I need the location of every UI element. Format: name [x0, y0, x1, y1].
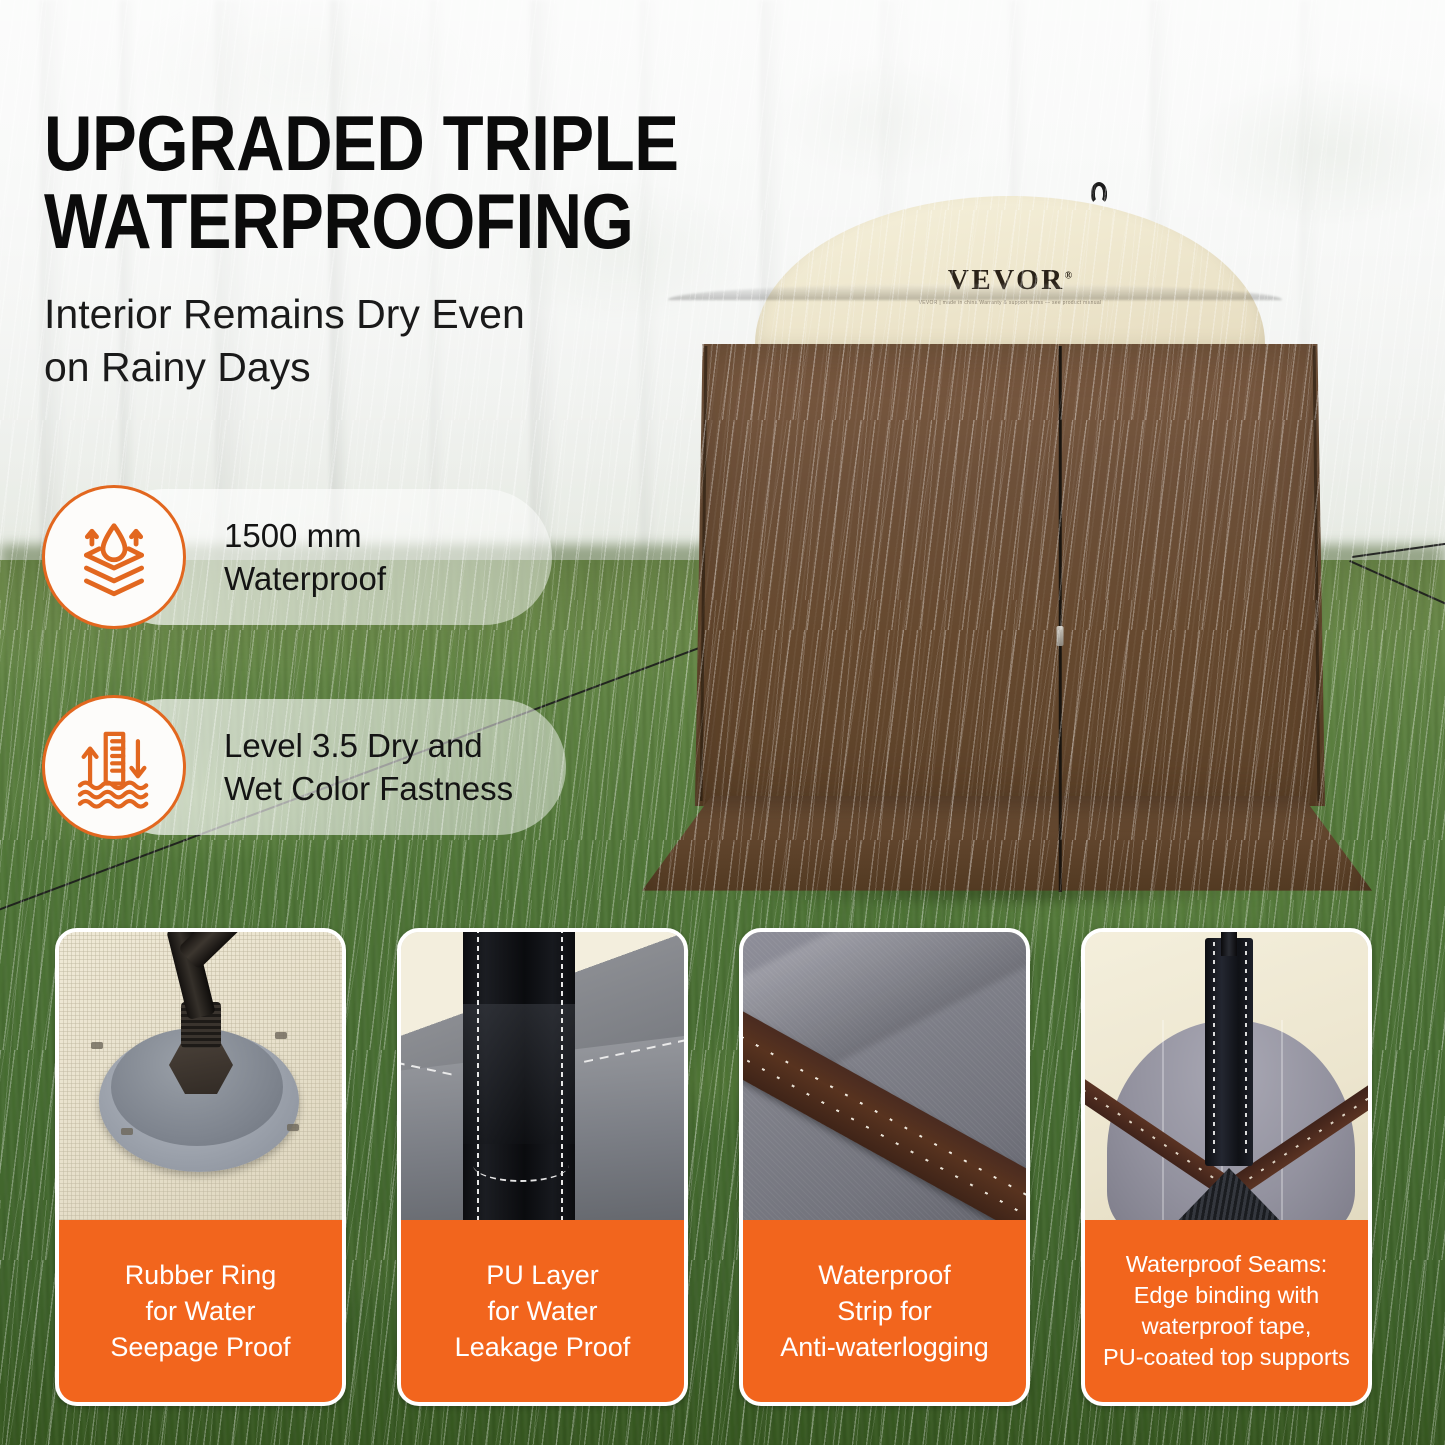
subheading-line-1: Interior Remains Dry Even [44, 288, 784, 341]
sleeve-stitch-left [1213, 942, 1215, 1154]
panel-3-caption-line-2: Strip for [837, 1296, 932, 1326]
rubber-ring-grommet-photo [59, 932, 342, 1228]
dome-rib-1 [1162, 1020, 1164, 1228]
sleeve-stitch-right [1245, 942, 1247, 1154]
waterproof-layers-icon [42, 485, 186, 629]
panel-4-caption-line-4: PU-coated top supports [1103, 1344, 1350, 1370]
tent-front-wall [695, 344, 1325, 806]
stitch-mark-4 [287, 1124, 299, 1131]
stitch-mark-3 [121, 1128, 133, 1135]
feature-2-line-1: Level 3.5 Dry and [224, 724, 513, 767]
feature-1-line-1: 1500 mm [224, 514, 386, 557]
detail-panel-rubber-ring: Rubber Ring for Water Seepage Proof [55, 928, 346, 1406]
tent-apex-loop-icon [1091, 182, 1107, 204]
strap-stitch-arc [473, 1148, 569, 1182]
center-pole-tip [1221, 932, 1237, 956]
headline-block: UPGRADED TRIPLE WATERPROOFING Interior R… [44, 104, 784, 394]
tent-skirt-seam [1059, 796, 1062, 892]
feature-2-line-2: Wet Color Fastness [224, 767, 513, 810]
vevor-fineprint: VEVOR | made in china Warranty & support… [755, 300, 1265, 307]
panel-3-caption-line-3: Anti-waterlogging [780, 1332, 989, 1362]
panel-2-caption-line-2: for Water [487, 1296, 597, 1326]
dome-rib-3 [1281, 1020, 1283, 1228]
panel-4-caption-line-1: Waterproof Seams: [1126, 1251, 1328, 1277]
zipper-pull-upper [1057, 626, 1064, 646]
strap-stitch-left [477, 932, 479, 1228]
headline-line-1: UPGRADED TRIPLE [44, 104, 680, 182]
trademark-symbol: ® [1065, 270, 1072, 281]
panel-3-caption-line-1: Waterproof [818, 1260, 951, 1290]
tent-door-zipper [1059, 346, 1062, 806]
stitch-mark-2 [275, 1032, 287, 1039]
detail-panel-3-caption: Waterproof Strip for Anti-waterlogging [743, 1220, 1026, 1402]
subheading-line-2: on Rainy Days [44, 341, 784, 394]
panel-1-caption-line-1: Rubber Ring [125, 1260, 277, 1290]
detail-panel-pu-layer: PU Layer for Water Leakage Proof [397, 928, 688, 1406]
waterproof-seams-apex-photo [1085, 932, 1368, 1228]
panel-2-caption-line-1: PU Layer [486, 1260, 599, 1290]
feature-1-line-2: Waterproof [224, 557, 386, 600]
detail-panel-waterproof-strip: Waterproof Strip for Anti-waterlogging [739, 928, 1030, 1406]
panel-2-caption-line-3: Leakage Proof [455, 1332, 631, 1362]
tent-fabric-texture [695, 344, 1325, 806]
color-fastness-icon [42, 695, 186, 839]
tent-roof-panel: VEVOR® VEVOR | made in china Warranty & … [755, 196, 1265, 356]
panel-1-caption-line-2: for Water [145, 1296, 255, 1326]
waterproof-strip-photo [743, 932, 1026, 1228]
panel-4-caption-line-2: Edge binding with [1134, 1282, 1320, 1308]
feature-pill-color-fastness: Level 3.5 Dry and Wet Color Fastness [96, 699, 566, 835]
headline-line-2: WATERPROOFING [44, 182, 680, 260]
panel-1-caption-line-3: Seepage Proof [110, 1332, 290, 1362]
feature-pill-waterproof: 1500 mm Waterproof [96, 489, 552, 625]
pu-layer-webbing-photo [401, 932, 684, 1228]
stitch-mark-1 [91, 1042, 103, 1049]
feature-pill-waterproof-text: 1500 mm Waterproof [224, 514, 386, 600]
feature-pill-color-fastness-text: Level 3.5 Dry and Wet Color Fastness [224, 724, 513, 810]
detail-panel-waterproof-seams: Waterproof Seams: Edge binding with wate… [1081, 928, 1372, 1406]
panel-4-caption-line-3: waterproof tape, [1142, 1313, 1312, 1339]
detail-panel-1-caption: Rubber Ring for Water Seepage Proof [59, 1220, 342, 1402]
tent-ground-skirt [642, 796, 1372, 906]
detail-panel-4-caption: Waterproof Seams: Edge binding with wate… [1085, 1220, 1368, 1402]
detail-panel-2-caption: PU Layer for Water Leakage Proof [401, 1220, 684, 1402]
strap-reinforcement-patch [463, 1004, 575, 1144]
strap-stitch-right [561, 932, 563, 1228]
